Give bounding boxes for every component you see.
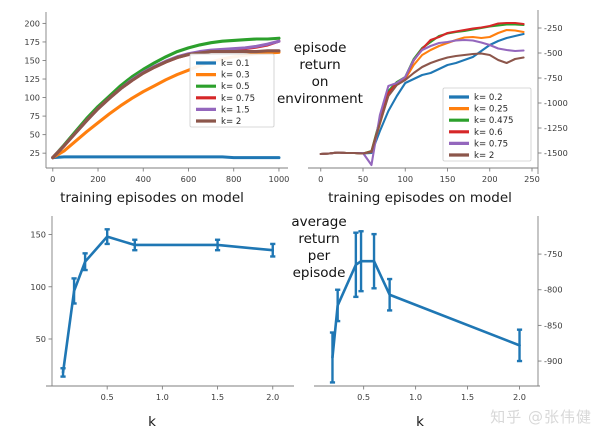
y-tick-label: 125: [24, 74, 40, 84]
x-tick-label: 1.5: [211, 392, 224, 402]
bottom-left-svg: 50100150 0.51.01.52.0 k: [0, 208, 300, 432]
top-left-axes: 255075100125150175200 02004006008001000 …: [24, 12, 289, 184]
top-left-x-ticklabels: 02004006008001000: [50, 168, 289, 184]
chart-panel-top-left: 255075100125150175200 02004006008001000 …: [0, 0, 300, 208]
legend-label-2[interactable]: k= 0.5: [221, 82, 250, 92]
x-tick-label: 150: [440, 174, 456, 184]
x-tick-label: 1.5: [461, 392, 474, 402]
x-tick-label: 250: [524, 174, 540, 184]
episode-return-line-3: on: [312, 74, 329, 90]
y-tick-label: -250: [544, 23, 563, 33]
series-line-k0.1: [53, 157, 279, 158]
x-tick-label: 100: [397, 174, 413, 184]
legend-label-5[interactable]: k= 2: [221, 117, 241, 127]
y-tick-label: 100: [30, 282, 46, 292]
episode-return-line-2: return: [299, 57, 340, 73]
x-tick-label: 0.5: [101, 392, 114, 402]
legend-label-2[interactable]: k= 0.475: [474, 116, 514, 126]
episode-return-line-1: episode: [294, 40, 347, 56]
legend-label-4[interactable]: k= 0.75: [474, 139, 508, 149]
average-return-line-1: average: [291, 214, 346, 230]
y-tick-label: 75: [30, 111, 40, 121]
top-left-y-ticklabels: 255075100125150175200: [24, 18, 46, 158]
top-right-y-ticklabels: -250-500-750-1000-1250-1500: [538, 23, 568, 158]
bottom-left-y-ticklabels: 50100150: [30, 230, 52, 344]
episode-return-line-4: environment: [277, 91, 363, 107]
figure-canvas: 255075100125150175200 02004006008001000 …: [0, 0, 600, 432]
top-left-xaxis-title: training episodes on model: [60, 190, 244, 206]
bottom-right-x-ticklabels: 0.51.01.52.0: [357, 386, 526, 402]
average-return-line-3: per: [308, 248, 331, 264]
episode-return-label-svg: episode return on environment: [265, 38, 375, 118]
y-tick-label: -800: [544, 285, 563, 295]
watermark: 知乎 @张伟健: [490, 406, 592, 427]
legend-label-3[interactable]: k= 0.6: [474, 128, 503, 138]
y-tick-label: -750: [544, 249, 563, 259]
x-tick-label: 200: [482, 174, 498, 184]
x-tick-label: 2.0: [513, 392, 526, 402]
y-tick-label: -900: [544, 356, 563, 366]
y-tick-label: 25: [30, 148, 40, 158]
bottom-left-axes: 50100150 0.51.01.52.0: [30, 216, 294, 402]
legend-label-5[interactable]: k= 2: [474, 151, 494, 161]
legend-label-1[interactable]: k= 0.25: [474, 105, 508, 115]
y-tick-label: 150: [30, 230, 46, 240]
top-right-legend[interactable]: k= 0.2k= 0.25k= 0.475k= 0.6k= 0.75k= 2: [443, 88, 531, 161]
top-left-legend[interactable]: k= 0.1k= 0.3k= 0.5k= 0.75k= 1.5k= 2: [190, 54, 274, 127]
bottom-right-y-ticklabels: -750-800-850-900: [538, 249, 563, 366]
y-tick-label: 50: [30, 130, 40, 140]
bottom-left-axis-lines: [46, 216, 294, 386]
x-tick-label: 600: [181, 174, 197, 184]
top-left-svg: 255075100125150175200 02004006008001000 …: [0, 0, 300, 208]
average-return-line-4: episode: [293, 265, 346, 281]
legend-label-0[interactable]: k= 0.1: [221, 59, 250, 69]
bottom-right-xaxis-title: k: [416, 414, 424, 430]
x-tick-label: 1000: [269, 174, 290, 184]
x-tick-label: 2.0: [266, 392, 279, 402]
x-tick-label: 400: [135, 174, 151, 184]
x-tick-label: 200: [90, 174, 106, 184]
average-return-line-2: return: [298, 231, 339, 247]
bottom-left-xaxis-title: k: [148, 414, 156, 430]
x-tick-label: 0.5: [357, 392, 370, 402]
y-tick-label: 50: [36, 334, 46, 344]
y-tick-label: -1000: [544, 98, 568, 108]
y-tick-label: -750: [544, 73, 563, 83]
x-tick-label: 1.0: [409, 392, 422, 402]
y-tick-label: -1250: [544, 123, 568, 133]
average-return-label-svg: average return per episode: [265, 212, 373, 292]
y-tick-label: 175: [24, 37, 40, 47]
legend-label-1[interactable]: k= 0.3: [221, 71, 250, 81]
bottom-left-errorbar-series: [60, 229, 275, 376]
x-tick-label: 1.0: [156, 392, 169, 402]
y-tick-label: -850: [544, 320, 563, 330]
x-tick-label: 800: [226, 174, 242, 184]
x-tick-label: 0: [50, 174, 55, 184]
bottom-left-x-ticklabels: 0.51.01.52.0: [101, 386, 280, 402]
y-tick-label: 200: [24, 18, 40, 28]
chart-panel-bottom-left: 50100150 0.51.01.52.0 k: [0, 208, 300, 432]
legend-label-0[interactable]: k= 0.2: [474, 93, 503, 103]
episode-return-label-block: episode return on environment: [265, 38, 375, 118]
x-tick-label: 50: [358, 174, 368, 184]
legend-label-4[interactable]: k= 1.5: [221, 105, 250, 115]
x-tick-label: 0: [318, 174, 323, 184]
top-right-xaxis-title: training episodes on model: [328, 190, 512, 206]
errorbar-line: [63, 237, 273, 373]
y-tick-label: -1500: [544, 148, 568, 158]
average-return-label-block: average return per episode: [265, 212, 373, 292]
legend-label-3[interactable]: k= 0.75: [221, 94, 255, 104]
top-right-x-ticklabels: 050100150200250: [318, 168, 540, 184]
y-tick-label: 100: [24, 93, 40, 103]
y-tick-label: 150: [24, 55, 40, 65]
y-tick-label: -500: [544, 48, 563, 58]
